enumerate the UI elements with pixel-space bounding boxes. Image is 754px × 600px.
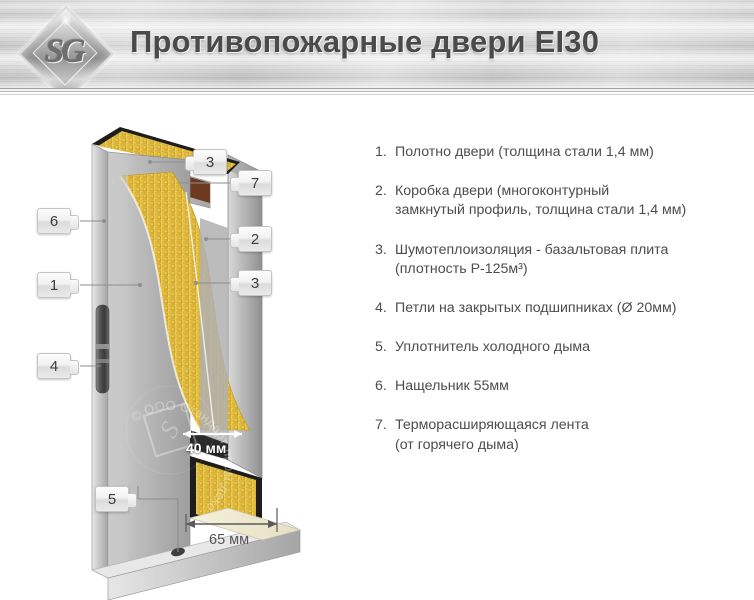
logo-sparkle-icon <box>60 14 72 26</box>
legend-item-6-text: Нащельник 55мм <box>395 377 747 396</box>
dimension-label-40mm: 40 мм <box>186 440 226 456</box>
page-title: Противопожарные двери EI30 <box>130 24 730 60</box>
legend-item-4: 4. Петли на закрытых подшипниках (Ø 20мм… <box>375 299 747 318</box>
dimension-label-65mm: 65 мм <box>209 532 249 548</box>
callout-4[interactable]: 4 <box>37 353 71 379</box>
callout-5[interactable]: 5 <box>95 486 129 512</box>
callout-7[interactable]: 7 <box>238 170 272 196</box>
legend-item-2: 2. Коробка двери (многоконтурный замкнут… <box>375 182 747 220</box>
fire-door-cutaway-diagram: S © ООО Стандарт-пром-деко 3 7 6 2 1 3 4… <box>0 100 370 600</box>
legend-item-1: 1. Полотно двери (толщина стали 1,4 мм) <box>375 143 747 162</box>
legend-item-6-number: 6. <box>375 377 395 396</box>
legend-item-3: 3. Шумотеплоизоляция - базальтовая плита… <box>375 241 747 279</box>
company-diamond-logo: SG <box>18 6 110 98</box>
legend-item-7-text: Терморасширяющаяся лента (от горячего ды… <box>395 416 747 454</box>
header-bottom-stripes <box>0 88 754 100</box>
logo-inner-rhombus <box>32 20 97 85</box>
legend-item-4-number: 4. <box>375 299 395 318</box>
callout-1[interactable]: 1 <box>37 272 71 298</box>
legend-item-5-text: Уплотнитель холодного дыма <box>395 338 747 357</box>
legend-list: 1. Полотно двери (толщина стали 1,4 мм) … <box>375 143 747 475</box>
callout-2[interactable]: 2 <box>238 226 272 252</box>
callout-6[interactable]: 6 <box>37 208 71 234</box>
legend-item-3-number: 3. <box>375 241 395 260</box>
legend-item-6: 6. Нащельник 55мм <box>375 377 747 396</box>
door-section-illustration: S <box>0 100 370 600</box>
callout-3-mid[interactable]: 3 <box>238 270 272 296</box>
legend-item-4-text: Петли на закрытых подшипниках (Ø 20мм) <box>395 299 747 318</box>
legend-item-1-text: Полотно двери (толщина стали 1,4 мм) <box>395 143 747 162</box>
legend-item-5-number: 5. <box>375 338 395 357</box>
hinge-bearing-ring <box>96 359 109 363</box>
legend-item-5: 5. Уплотнитель холодного дыма <box>375 338 747 357</box>
callout-3-top[interactable]: 3 <box>193 149 227 175</box>
logo-monogram-text: SG <box>18 6 110 98</box>
legend-item-7: 7. Терморасширяющаяся лента (от горячего… <box>375 416 747 454</box>
legend-item-2-number: 2. <box>375 182 395 201</box>
legend-item-2-text: Коробка двери (многоконтурный замкнутый … <box>395 182 747 220</box>
legend-item-3-text: Шумотеплоизоляция - базальтовая плита (п… <box>395 241 747 279</box>
logo-rhombus-shape <box>18 6 114 100</box>
legend-item-7-number: 7. <box>375 416 395 435</box>
leaf-front-steel-skin <box>108 152 128 578</box>
page-header: SG Противопожарные двери EI30 <box>0 0 754 100</box>
hinge-knuckle-gap <box>96 344 109 349</box>
legend-item-1-number: 1. <box>375 143 395 162</box>
